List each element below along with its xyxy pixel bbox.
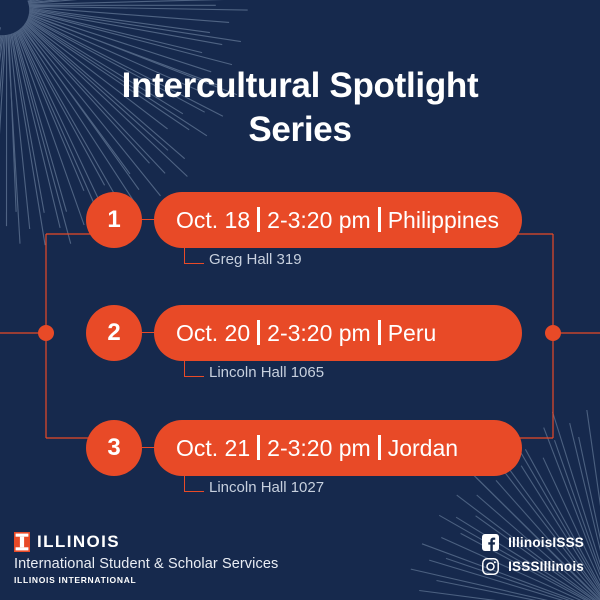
event-country: Peru [388, 320, 437, 346]
event-location: Lincoln Hall 1065 [86, 359, 522, 393]
event-pill-text: Oct. 18 2-3:20 pm Philippines [176, 207, 499, 233]
event-date: Oct. 21 [176, 435, 250, 461]
location-elbow-vertical [184, 474, 185, 492]
separator-bar-icon [257, 435, 260, 460]
page-title: Intercultural Spotlight Series [60, 64, 540, 152]
location-elbow-vertical [184, 246, 185, 264]
facebook-handle: IllinoisISSS [508, 535, 584, 550]
bracket-right-node-dot [545, 325, 561, 341]
social-row-instagram[interactable]: ISSSIllinois [482, 558, 584, 575]
event-time: 2-3:20 pm [267, 320, 371, 346]
event-date: Oct. 20 [176, 320, 250, 346]
event-row: 3 Oct. 21 2-3:20 pm Jordan [86, 420, 522, 476]
footer-unit-name: International Student & Scholar Services [14, 556, 278, 572]
separator-bar-icon [378, 320, 381, 345]
event-pill[interactable]: Oct. 20 2-3:20 pm Peru [154, 305, 522, 361]
illinois-block-i-icon [14, 532, 30, 552]
event-number-badge: 3 [86, 420, 142, 476]
location-elbow-vertical [184, 359, 185, 377]
separator-bar-icon [257, 320, 260, 345]
instagram-handle: ISSSIllinois [508, 559, 584, 574]
separator-bar-icon [378, 435, 381, 460]
facebook-icon[interactable] [482, 534, 499, 551]
event-time: 2-3:20 pm [267, 435, 371, 461]
location-label: Greg Hall 319 [209, 251, 302, 268]
poster-canvas: Intercultural Spotlight Series 1 Oct. 18… [0, 0, 600, 600]
location-label: Lincoln Hall 1065 [209, 364, 324, 381]
event-date: Oct. 18 [176, 207, 250, 233]
event-pill-text: Oct. 21 2-3:20 pm Jordan [176, 435, 458, 461]
event-row: 1 Oct. 18 2-3:20 pm Philippines [86, 192, 522, 248]
title-line-2: Series [60, 108, 540, 152]
event-time: 2-3:20 pm [267, 207, 371, 233]
location-label: Lincoln Hall 1027 [209, 479, 324, 496]
bracket-left-node-dot [38, 325, 54, 341]
title-line-1: Intercultural Spotlight [122, 66, 479, 105]
location-elbow-horizontal [184, 491, 204, 492]
separator-bar-icon [378, 207, 381, 232]
separator-bar-icon [257, 207, 260, 232]
event-country: Philippines [388, 207, 499, 233]
event-pill[interactable]: Oct. 21 2-3:20 pm Jordan [154, 420, 522, 476]
event-number-badge: 1 [86, 192, 142, 248]
illinois-wordmark-row: ILLINOIS [14, 532, 278, 552]
social-row-facebook[interactable]: IllinoisISSS [482, 534, 584, 551]
event-number-badge: 2 [86, 305, 142, 361]
footer-logo-lockup: ILLINOIS International Student & Scholar… [14, 532, 278, 585]
event-location: Lincoln Hall 1027 [86, 474, 522, 508]
event-country: Jordan [388, 435, 458, 461]
social-handles: IllinoisISSS ISSSIllinois [482, 534, 584, 575]
event-pill[interactable]: Oct. 18 2-3:20 pm Philippines [154, 192, 522, 248]
event-location: Greg Hall 319 [86, 246, 522, 280]
event-pill-text: Oct. 20 2-3:20 pm Peru [176, 320, 436, 346]
event-row: 2 Oct. 20 2-3:20 pm Peru [86, 305, 522, 361]
illinois-wordmark-text: ILLINOIS [37, 532, 120, 552]
footer-unit-subtitle: ILLINOIS INTERNATIONAL [14, 575, 278, 585]
instagram-icon[interactable] [482, 558, 499, 575]
location-elbow-horizontal [184, 376, 204, 377]
location-elbow-horizontal [184, 263, 204, 264]
